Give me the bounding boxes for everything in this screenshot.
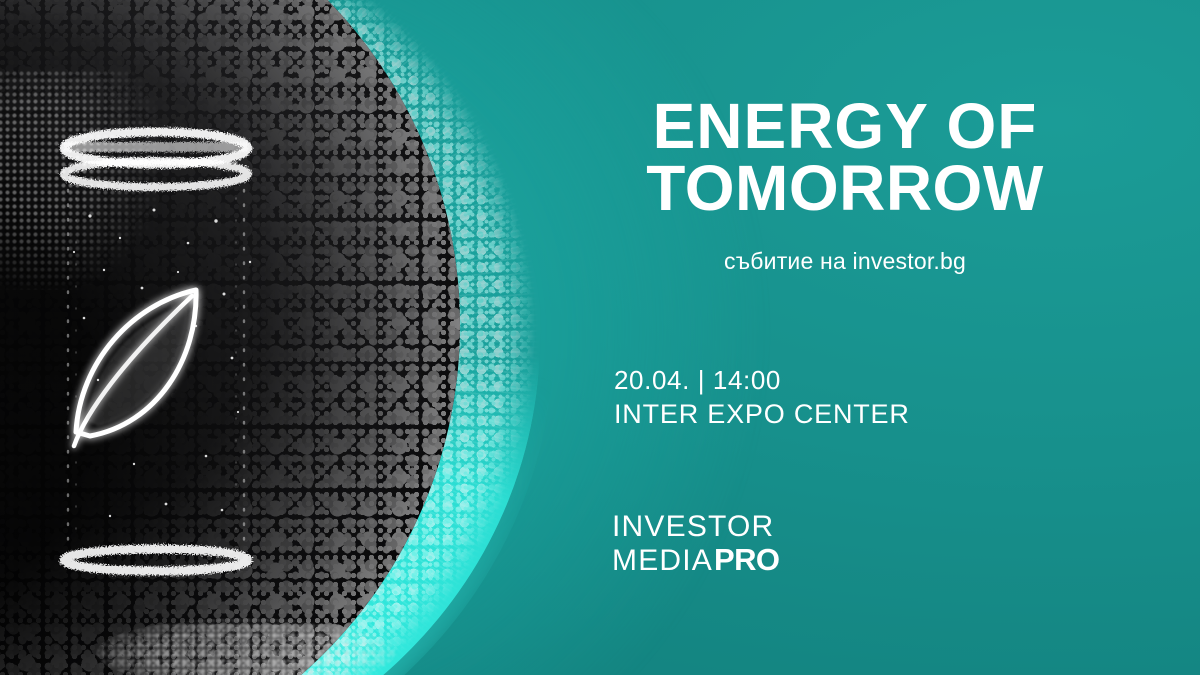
event-datetime: 20.04. | 14:00 [614, 365, 781, 396]
headline-line-2: TOMORROW [610, 157, 1080, 219]
leaf-texture [86, 304, 188, 426]
brand-logo: INVESTOR MEDIA PRO [612, 512, 779, 576]
event-venue: INTER EXPO CENTER [614, 399, 910, 430]
headline-line-1: ENERGY OF [610, 95, 1080, 157]
subtitle: събитие на investor.bg [610, 248, 1080, 275]
page-title: ENERGY OF TOMORROW [610, 95, 1080, 219]
logo-line-media-pro: MEDIA PRO [612, 544, 779, 577]
logo-line-investor: INVESTOR [612, 512, 779, 543]
jar-leaf-illustration [46, 112, 266, 572]
poster-content: ENERGY OF TOMORROW събитие на investor.b… [610, 0, 1170, 675]
jar-lid [64, 132, 248, 187]
logo-media-text: MEDIA [612, 546, 713, 577]
logo-pro-text: PRO [714, 544, 779, 576]
jar-base [64, 549, 248, 571]
event-poster: ENERGY OF TOMORROW събитие на investor.b… [0, 0, 1200, 675]
